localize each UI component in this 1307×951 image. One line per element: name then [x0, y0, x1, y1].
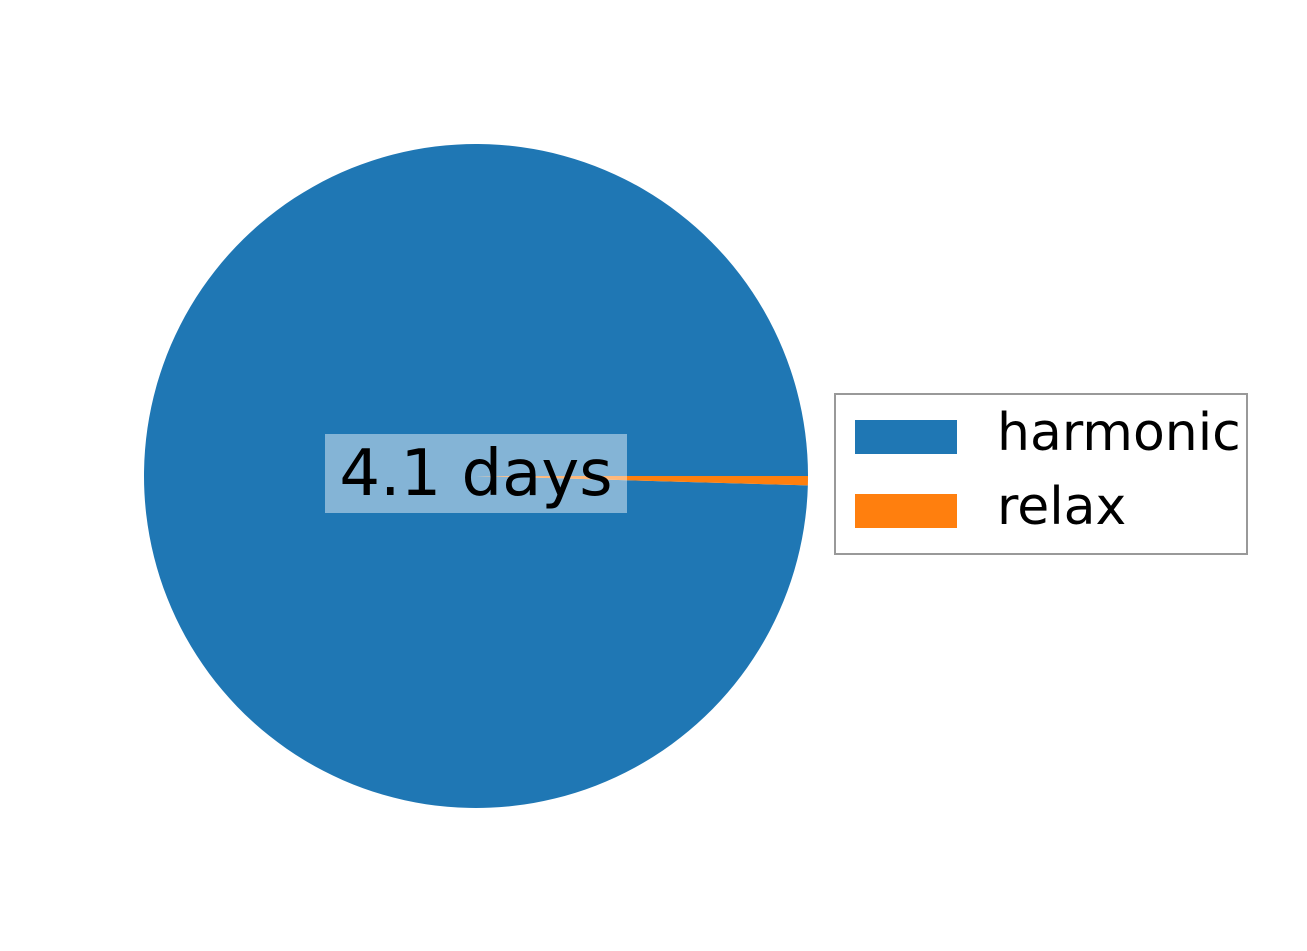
legend-swatch-harmonic	[855, 420, 957, 454]
figure-canvas: 4.1 days harmonic relax	[0, 0, 1307, 951]
legend-swatch-relax	[855, 494, 957, 528]
legend-entry-harmonic[interactable]: harmonic	[836, 409, 1246, 465]
pie-axes: 4.1 days	[0, 0, 952, 951]
pie-slice-label-harmonic: 4.1 days	[325, 434, 627, 513]
legend-label-harmonic: harmonic	[997, 405, 1241, 461]
legend: harmonic relax	[834, 393, 1248, 555]
legend-entry-relax[interactable]: relax	[836, 483, 1246, 539]
legend-label-relax: relax	[997, 479, 1126, 535]
